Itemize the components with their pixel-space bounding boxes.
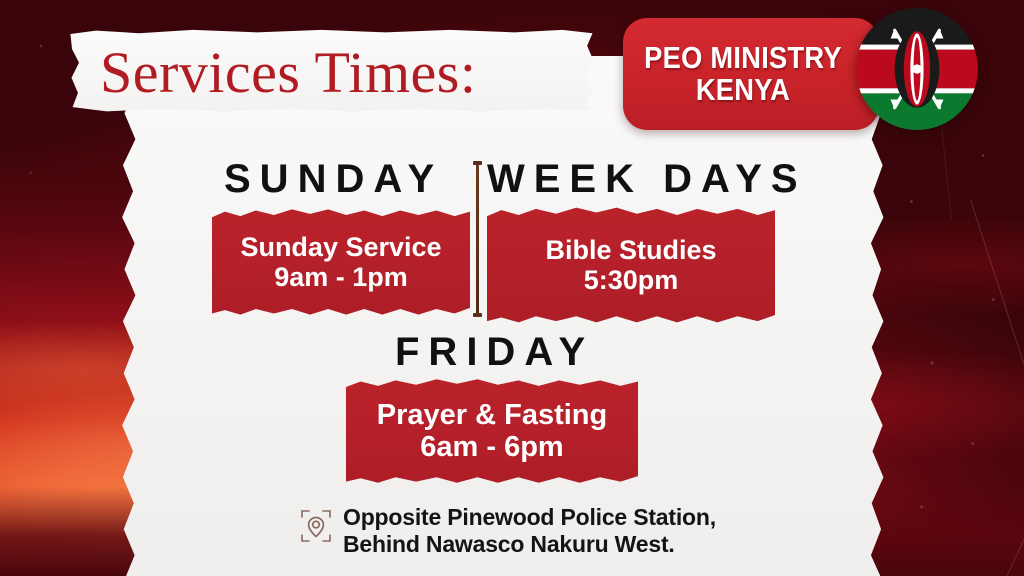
service-band-friday: Prayer & Fasting 6am - 6pm bbox=[346, 376, 638, 486]
day-header-week-days: WEEK DAYS bbox=[487, 157, 807, 202]
service-name-week-days: Bible Studies bbox=[545, 235, 716, 265]
location-pin-icon bbox=[299, 508, 333, 544]
column-divider bbox=[473, 161, 482, 317]
divider-cap-bottom bbox=[473, 313, 482, 317]
location-address: Opposite Pinewood Police Station, Behind… bbox=[343, 504, 716, 558]
address-line-1: Opposite Pinewood Police Station, bbox=[343, 504, 716, 530]
kenya-flag-circle-icon bbox=[856, 8, 978, 130]
page-title: Services Times: bbox=[100, 36, 570, 108]
service-band-sunday: Sunday Service 9am - 1pm bbox=[212, 206, 470, 318]
service-time-sunday: 9am - 1pm bbox=[274, 262, 408, 292]
day-header-sunday: SUNDAY bbox=[224, 157, 443, 202]
service-time-week-days: 5:30pm bbox=[584, 265, 679, 295]
divider-bar bbox=[476, 165, 479, 313]
location-block: Opposite Pinewood Police Station, Behind… bbox=[299, 504, 859, 558]
brand-line-1: PEO MINISTRY bbox=[644, 42, 842, 74]
brand-line-2: KENYA bbox=[696, 74, 790, 106]
address-line-2: Behind Nawasco Nakuru West. bbox=[343, 531, 675, 557]
services-times-poster: Services Times: PEO MINISTRY KENYA bbox=[0, 0, 1024, 576]
service-name-friday: Prayer & Fasting bbox=[377, 399, 607, 431]
brand-name: PEO MINISTRY KENYA bbox=[637, 18, 848, 130]
day-header-friday: FRIDAY bbox=[395, 330, 594, 375]
service-name-sunday: Sunday Service bbox=[240, 232, 441, 262]
service-band-week-days: Bible Studies 5:30pm bbox=[487, 204, 775, 326]
service-time-friday: 6am - 6pm bbox=[420, 431, 563, 463]
